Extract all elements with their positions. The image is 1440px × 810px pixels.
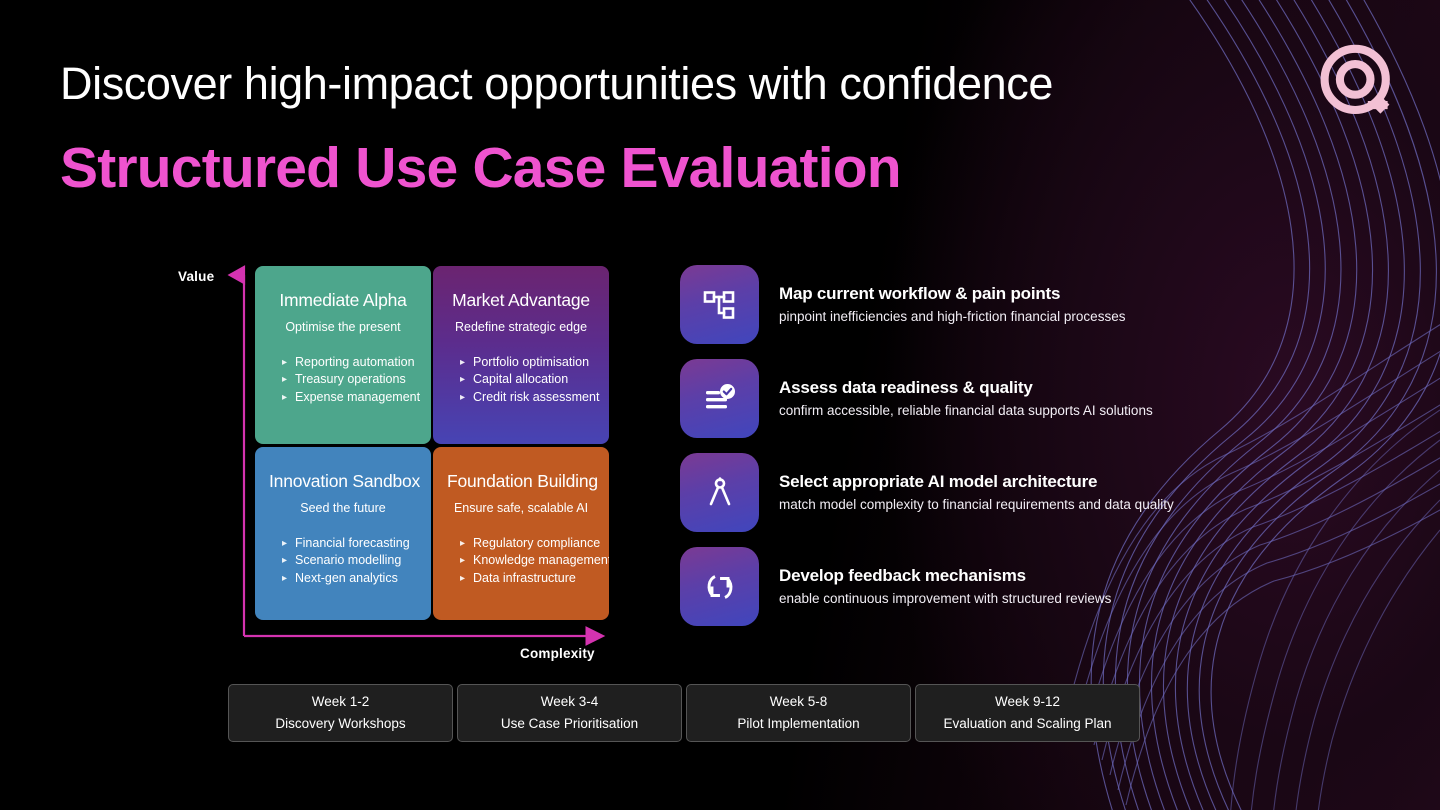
checklist-verified-icon: [680, 359, 759, 438]
quadrant-item: Next-gen analytics: [282, 570, 417, 587]
slide-eyebrow: Discover high-impact opportunities with …: [60, 58, 1053, 110]
quadrant-item-list: Regulatory compliance Knowledge manageme…: [447, 535, 595, 587]
quadrant-subtitle: Seed the future: [269, 501, 417, 516]
timeline-phase-name: Pilot Implementation: [737, 715, 859, 733]
step-item[interactable]: Map current workflow & pain points pinpo…: [680, 265, 1220, 359]
quadrant-item: Financial forecasting: [282, 535, 417, 552]
step-description: enable continuous improvement with struc…: [779, 590, 1111, 608]
quadrant-foundation-building[interactable]: Foundation Building Ensure safe, scalabl…: [433, 447, 609, 620]
timeline-week: Week 9-12: [995, 693, 1060, 711]
step-description: pinpoint inefficiencies and high-frictio…: [779, 308, 1125, 326]
step-item[interactable]: Select appropriate AI model architecture…: [680, 453, 1220, 547]
evaluation-steps-list: Map current workflow & pain points pinpo…: [680, 265, 1220, 641]
timeline-strip: Week 1-2 Discovery Workshops Week 3-4 Us…: [228, 684, 1140, 742]
quadrant-item: Treasury operations: [282, 371, 417, 388]
timeline-week: Week 3-4: [541, 693, 599, 711]
quantum-q-logo: [1312, 38, 1402, 128]
step-text: Map current workflow & pain points pinpo…: [779, 283, 1125, 326]
step-description: match model complexity to financial requ…: [779, 496, 1174, 514]
timeline-phase[interactable]: Week 3-4 Use Case Prioritisation: [457, 684, 682, 742]
step-description: confirm accessible, reliable financial d…: [779, 402, 1153, 420]
quadrant-item: Portfolio optimisation: [460, 354, 595, 371]
quadrant-innovation-sandbox[interactable]: Innovation Sandbox Seed the future Finan…: [255, 447, 431, 620]
step-text: Develop feedback mechanisms enable conti…: [779, 565, 1111, 608]
matrix-x-axis-label: Complexity: [520, 646, 595, 661]
step-item[interactable]: Assess data readiness & quality confirm …: [680, 359, 1220, 453]
refresh-cycle-icon: [680, 547, 759, 626]
quadrant-subtitle: Redefine strategic edge: [447, 320, 595, 335]
timeline-phase-name: Use Case Prioritisation: [501, 715, 638, 733]
quadrant-item: Regulatory compliance: [460, 535, 595, 552]
quadrant-item: Reporting automation: [282, 354, 417, 371]
step-text: Assess data readiness & quality confirm …: [779, 377, 1153, 420]
quadrant-market-advantage[interactable]: Market Advantage Redefine strategic edge…: [433, 266, 609, 444]
quadrant-item-list: Portfolio optimisation Capital allocatio…: [447, 354, 595, 406]
matrix-y-axis-label: Value: [178, 269, 214, 284]
quadrant-item-list: Reporting automation Treasury operations…: [269, 354, 417, 406]
quadrant-title: Innovation Sandbox: [269, 471, 417, 492]
step-item[interactable]: Develop feedback mechanisms enable conti…: [680, 547, 1220, 641]
quadrant-title: Market Advantage: [447, 290, 595, 311]
timeline-phase[interactable]: Week 5-8 Pilot Implementation: [686, 684, 911, 742]
quadrant-title: Immediate Alpha: [269, 290, 417, 311]
quadrant-subtitle: Optimise the present: [269, 320, 417, 335]
step-title: Select appropriate AI model architecture: [779, 471, 1174, 492]
value-complexity-matrix: Value Complexity Immediate Alpha Optimis…: [178, 258, 638, 663]
quadrant-item: Expense management: [282, 389, 417, 406]
step-title: Develop feedback mechanisms: [779, 565, 1111, 586]
quadrant-item: Knowledge management: [460, 552, 595, 569]
drafting-compass-icon: [680, 453, 759, 532]
timeline-week: Week 1-2: [312, 693, 370, 711]
quadrant-subtitle: Ensure safe, scalable AI: [447, 501, 595, 516]
timeline-week: Week 5-8: [770, 693, 828, 711]
timeline-phase-name: Discovery Workshops: [275, 715, 405, 733]
quadrant-item-list: Financial forecasting Scenario modelling…: [269, 535, 417, 587]
slide-headline: Structured Use Case Evaluation: [60, 136, 901, 202]
quadrant-item: Scenario modelling: [282, 552, 417, 569]
step-text: Select appropriate AI model architecture…: [779, 471, 1174, 514]
quadrant-item: Data infrastructure: [460, 570, 595, 587]
quadrant-title: Foundation Building: [447, 471, 595, 492]
quadrant-immediate-alpha[interactable]: Immediate Alpha Optimise the present Rep…: [255, 266, 431, 444]
quadrant-item: Capital allocation: [460, 371, 595, 388]
timeline-phase-name: Evaluation and Scaling Plan: [943, 715, 1111, 733]
timeline-phase[interactable]: Week 1-2 Discovery Workshops: [228, 684, 453, 742]
slide-canvas: Discover high-impact opportunities with …: [0, 0, 1440, 810]
step-title: Assess data readiness & quality: [779, 377, 1153, 398]
step-title: Map current workflow & pain points: [779, 283, 1125, 304]
quadrant-item: Credit risk assessment: [460, 389, 595, 406]
workflow-diagram-icon: [680, 265, 759, 344]
timeline-phase[interactable]: Week 9-12 Evaluation and Scaling Plan: [915, 684, 1140, 742]
